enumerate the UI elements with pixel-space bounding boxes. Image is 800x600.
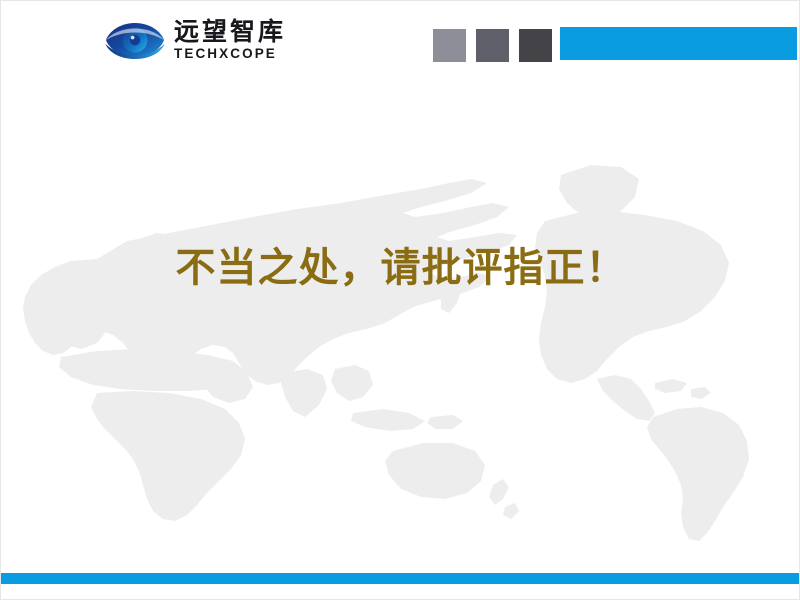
world-map-shapes	[23, 165, 749, 541]
slide-title: 不当之处，请批评指正！	[1, 235, 800, 293]
brand-logo: 远望智库 TECHXCOPE	[104, 15, 286, 65]
decor-square-light	[431, 27, 468, 64]
slide-canvas: 远望智库 TECHXCOPE 不当之处，请批评指正！	[0, 0, 800, 600]
decor-square-medium	[474, 27, 511, 64]
world-map-watermark	[1, 121, 800, 541]
brand-name-en: TECHXCOPE	[174, 47, 286, 61]
eye-logo-icon	[104, 18, 166, 62]
brand-name-cn: 远望智库	[174, 19, 286, 44]
decor-square-dark	[517, 27, 554, 64]
header-accent-bar	[560, 27, 797, 60]
footer-accent-bar	[1, 573, 800, 584]
brand-logo-text: 远望智库 TECHXCOPE	[174, 19, 286, 61]
